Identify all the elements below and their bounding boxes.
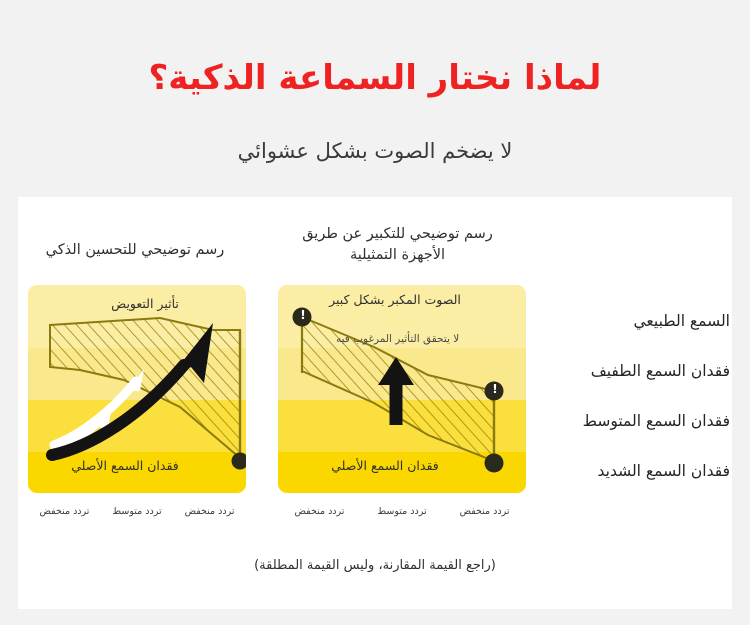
page-title: لماذا نختار السماعة الذكية؟ (0, 58, 750, 99)
legend-label: السمع الطبيعي (634, 312, 731, 330)
axis-tick: تردد منخفض (185, 506, 235, 517)
smart-top-label: تأثير التعويض (60, 296, 230, 311)
smart-chart-heading: رسم توضيحي للتحسين الذكي (30, 240, 240, 261)
warning-glyph-right: ! (486, 382, 504, 396)
legend-label: فقدان السمع المتوسط (583, 412, 730, 430)
smart-axis-ticks: تردد منخفض تردد متوسط تردد منخفض (28, 506, 246, 528)
axis-tick: تردد منخفض (295, 506, 345, 517)
axis-tick: تردد متوسط (112, 506, 161, 517)
axis-tick: تردد متوسط (377, 506, 426, 517)
analog-axis-ticks: تردد منخفض تردد متوسط تردد منخفض (278, 506, 526, 528)
analog-chart-heading: رسم توضيحي للتكبير عن طريق الأجهزة التمث… (285, 224, 510, 266)
original-loss-marker (485, 454, 504, 473)
axis-tick: تردد منخفض (40, 506, 90, 517)
footnote: (راجع القيمة المقارنة، وليس القيمة المطل… (18, 558, 732, 573)
smart-bottom-label: فقدان السمع الأصلي (45, 458, 205, 473)
legend-item-normal: السمع الطبيعي (534, 296, 730, 346)
legend-item-severe: فقدان السمع الشديد (534, 446, 730, 496)
warning-glyph-top: ! (294, 308, 312, 322)
legend-item-moderate: فقدان السمع المتوسط (534, 396, 730, 446)
legend-item-mild: فقدان السمع الطفيف (534, 346, 730, 396)
page-subtitle: لا يضخم الصوت بشكل عشوائي (0, 138, 750, 165)
infographic-page: لماذا نختار السماعة الذكية؟ لا يضخم الصو… (0, 0, 750, 625)
original-loss-marker (232, 453, 247, 470)
chart-panel: رسم توضيحي للتحسين الذكي رسم توضيحي للتك… (18, 197, 732, 609)
analog-overlay-note: لا يتحقق التأثير المرغوب فيه (336, 333, 459, 345)
analog-top-label: الصوت المكبر بشكل كبير (300, 292, 490, 307)
legend-label: فقدان السمع الشديد (598, 462, 730, 480)
severity-legend: السمع الطبيعي فقدان السمع الطفيف فقدان ا… (534, 296, 730, 496)
analog-bottom-label: فقدان السمع الأصلي (300, 458, 470, 473)
axis-tick: تردد منخفض (460, 506, 510, 517)
legend-label: فقدان السمع الطفيف (591, 362, 730, 380)
